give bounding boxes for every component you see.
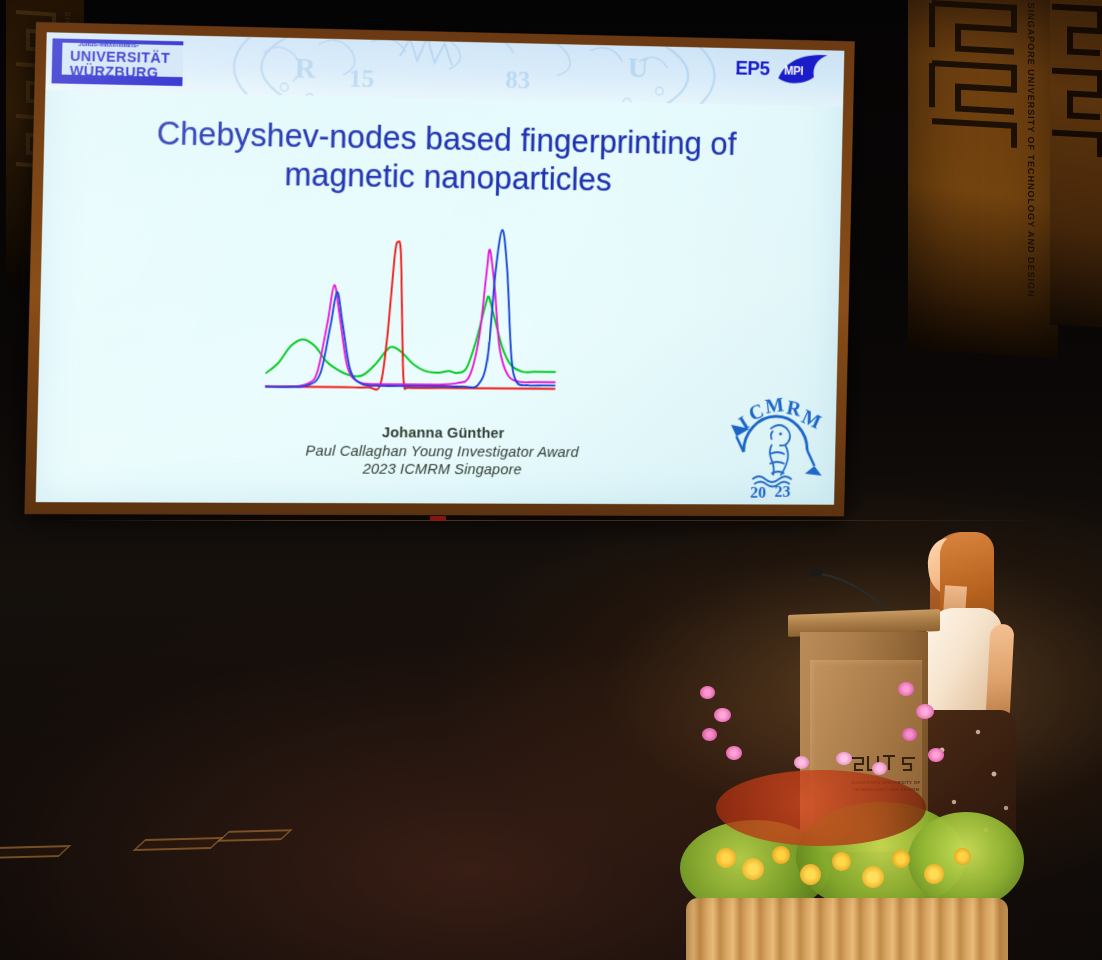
floral-arrangement (676, 652, 1026, 960)
orchid-bloom (902, 728, 917, 741)
spectrum-traces (266, 226, 558, 391)
marigold-bloom (924, 864, 944, 884)
icmrm-conference-logo: I C M R M (722, 394, 826, 499)
award-name: Paul Callaghan Young Investigator Award (150, 442, 729, 462)
orchid-bloom (726, 746, 742, 760)
spectrum-trace-blue (266, 226, 558, 389)
projection-screen: 15 83 R U Julius-Maximilians- UNIVERSITÄ… (36, 22, 886, 522)
marigold-bloom (954, 848, 971, 865)
venue-banner-text-right: SINGAPORE UNIVERSITY OF TECHNOLOGY AND D… (1026, 2, 1036, 297)
orchid-bloom (872, 762, 887, 775)
projector-status-light (430, 516, 446, 521)
slide-title: Chebyshev-nodes based fingerprinting of … (83, 113, 805, 202)
ep5-label: EP5 (735, 58, 770, 81)
svg-text:R: R (785, 395, 804, 421)
marigold-bloom (892, 850, 910, 868)
slide-credit-block: Johanna Günther Paul Callaghan Young Inv… (150, 423, 730, 479)
university-superline: Julius-Maximilians- (78, 41, 138, 49)
marigold-bloom (800, 864, 821, 885)
orchid-bloom (794, 756, 809, 769)
orchid-bloom (714, 708, 731, 722)
spectrum-trace-green (266, 294, 557, 378)
spectrum-plot (254, 214, 568, 405)
red-flower-mass (716, 770, 926, 846)
icmrm-year-left: 20 (750, 483, 766, 499)
mpi-label: MPI (784, 64, 803, 78)
icmrm-year-right: 23 (774, 482, 790, 499)
svg-text:C: C (745, 398, 766, 425)
orchid-bloom (836, 752, 852, 765)
stage-trapdoor-outline (217, 829, 293, 842)
orchid-bloom (928, 748, 944, 762)
university-seal-watermark: 15 83 R U (223, 32, 725, 106)
sutd-maze-pattern-far-right (1050, 0, 1102, 182)
marigold-bloom (742, 858, 764, 880)
svg-text:U: U (627, 52, 648, 85)
marigold-bloom (772, 846, 790, 864)
svg-text:83: 83 (505, 65, 531, 94)
presenter-name: Johanna Günther (150, 423, 729, 443)
venue-banner-right: SINGAPORE UNIVERSITY OF TECHNOLOGY AND D… (908, 0, 1058, 358)
marigold-bloom (862, 866, 884, 888)
screen-frame: 15 83 R U Julius-Maximilians- UNIVERSITÄ… (24, 22, 854, 516)
slide-header-band: 15 83 R U Julius-Maximilians- UNIVERSITÄ… (45, 32, 844, 106)
svg-text:15: 15 (349, 64, 375, 93)
auditorium-stage-scene: SINGAPORE UNIVERSITY OF TECHNOLOGY AND D… (0, 0, 1102, 960)
projected-slide: 15 83 R U Julius-Maximilians- UNIVERSITÄ… (36, 32, 845, 504)
ep5-mpi-group-logo: EP5 MPI (735, 54, 827, 89)
orchid-bloom (916, 704, 934, 719)
orchid-bloom (700, 686, 715, 699)
orchid-bloom (702, 728, 717, 741)
stage-edge-line (46, 520, 1056, 521)
svg-text:M: M (764, 394, 785, 419)
university-wuerzburg-logo: Julius-Maximilians- UNIVERSITÄT WÜRZBURG (52, 38, 184, 86)
svg-text:M: M (798, 405, 824, 434)
university-name-line2: WÜRZBURG (70, 64, 159, 82)
orchid-bloom (898, 682, 914, 696)
wooden-planter-barrel (686, 898, 1008, 960)
stage-trapdoor-outline (0, 845, 72, 859)
sutd-maze-pattern-right (922, 0, 1026, 150)
venue-banner-far-right (1050, 0, 1102, 328)
event-name: 2023 ICMRM Singapore (150, 460, 729, 479)
stage-trapdoor-outline (132, 837, 223, 851)
nmr-spectrum-figure (254, 214, 568, 405)
marigold-bloom (716, 848, 736, 868)
marigold-bloom (832, 852, 851, 871)
svg-text:R: R (294, 52, 316, 85)
